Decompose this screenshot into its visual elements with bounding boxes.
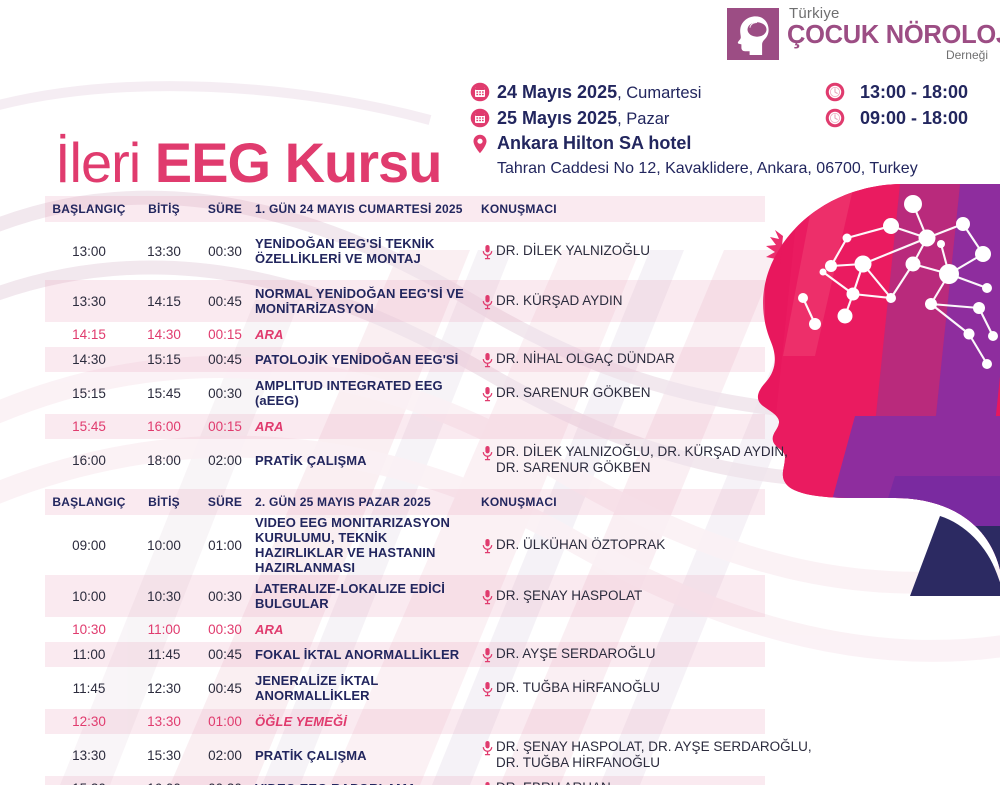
- row-start-time: 14:30: [45, 352, 133, 367]
- column-header-speaker: KONUŞMACI: [481, 201, 765, 217]
- microphone-icon: [481, 538, 494, 554]
- row-duration: 01:00: [195, 714, 255, 729]
- schedule-row: 11:4512:3000:45JENERALİZE İKTAL ANORMALL…: [45, 667, 765, 709]
- row-end-time: 16:00: [133, 781, 195, 785]
- schedule-row: 13:3015:3002:00PRATİK ÇALIŞMADR. ŞENAY H…: [45, 734, 765, 776]
- row-start-time: 12:30: [45, 714, 133, 729]
- logo-wordmark: Türkiye ÇOCUK NÖROLOJİSİ Derneği: [787, 6, 992, 64]
- calendar-icon: [470, 108, 490, 128]
- row-duration: 00:45: [195, 352, 255, 367]
- row-speaker-name: DR. NİHAL OLGAÇ DÜNDAR: [496, 351, 675, 367]
- row-duration: 00:30: [195, 386, 255, 401]
- schedule-row: 15:4516:0000:15ARA: [45, 414, 765, 439]
- row-start-time: 13:30: [45, 294, 133, 309]
- microphone-icon: [481, 352, 494, 368]
- row-end-time: 13:30: [133, 244, 195, 259]
- schedule-table: BAŞLANGIÇBİTİŞSÜRE1. GÜN 24 MAYIS CUMART…: [45, 196, 765, 785]
- schedule-row: 11:0011:4500:45FOKAL İKTAL ANORMALLİKLER…: [45, 642, 765, 667]
- row-speaker-name: DR. EBRU ARHAN: [496, 780, 611, 785]
- schedule-row: 15:1515:4500:30AMPLITUD INTEGRATED EEG (…: [45, 372, 765, 414]
- row-start-time: 15:30: [45, 781, 133, 785]
- row-speaker: DR. SARENUR GÖKBEN: [481, 385, 765, 402]
- row-speaker-name: DR. ŞENAY HASPOLAT: [496, 588, 642, 604]
- row-speaker-name: DR. KÜRŞAD AYDIN: [496, 293, 623, 309]
- organization-logo: Türkiye ÇOCUK NÖROLOJİSİ Derneği: [727, 6, 989, 64]
- row-end-time: 14:30: [133, 327, 195, 342]
- row-topic: PRATİK ÇALIŞMA: [255, 748, 481, 763]
- row-speaker: DR. NİHAL OLGAÇ DÜNDAR: [481, 351, 765, 368]
- column-header-duration: SÜRE: [195, 495, 255, 509]
- schedule-row: 09:0010:0001:00VIDEO EEG MONITARIZASYON …: [45, 515, 765, 575]
- row-end-time: 12:30: [133, 681, 195, 696]
- microphone-icon: [481, 244, 494, 260]
- row-duration: 00:30: [195, 781, 255, 785]
- row-speaker: DR. ŞENAY HASPOLAT: [481, 588, 765, 605]
- event-day2-date: 25 Mayıs 2025, Pazar: [497, 106, 669, 131]
- row-topic: AMPLITUD INTEGRATED EEG (aEEG): [255, 378, 481, 408]
- row-end-time: 15:15: [133, 352, 195, 367]
- schedule-row: 13:0013:3000:30YENİDOĞAN EEG'Sİ TEKNİK Ö…: [45, 222, 765, 280]
- schedule-row: 13:3014:1500:45NORMAL YENİDOĞAN EEG'Sİ V…: [45, 280, 765, 322]
- row-speaker-name: DR. AYŞE SERDAROĞLU: [496, 646, 656, 662]
- row-speaker: DR. DİLEK YALNIZOĞLU: [481, 243, 765, 260]
- row-topic: ÖĞLE YEMEĞİ: [255, 714, 481, 729]
- row-start-time: 15:15: [45, 386, 133, 401]
- column-header-day: 1. GÜN 24 MAYIS CUMARTESİ 2025: [255, 202, 481, 217]
- row-duration: 01:00: [195, 538, 255, 553]
- page-title: İleri EEG Kursu: [55, 133, 441, 193]
- row-duration: 00:30: [195, 622, 255, 637]
- row-end-time: 18:00: [133, 453, 195, 468]
- row-start-time: 13:30: [45, 748, 133, 763]
- row-duration: 02:00: [195, 748, 255, 763]
- row-speaker-name: DR. ÜLKÜHAN ÖZTOPRAK: [496, 537, 665, 553]
- row-duration: 00:45: [195, 647, 255, 662]
- column-header-end: BİTİŞ: [133, 495, 195, 509]
- logo-main-line: ÇOCUK NÖROLOJİSİ: [787, 22, 992, 49]
- event-day1-time-wrap: 13:00 - 18:00: [825, 80, 990, 104]
- row-speaker: DR. EBRU ARHAN: [481, 780, 765, 785]
- column-header-end: BİTİŞ: [133, 202, 195, 216]
- event-day2-date-text: 25 Mayıs 2025: [497, 108, 617, 128]
- event-day1-row: 24 Mayıs 2025, Cumartesi 13:00 - 18:00: [470, 80, 990, 106]
- row-speaker: DR. TUĞBA HİRFANOĞLU: [481, 680, 765, 697]
- column-header-speaker: KONUŞMACI: [481, 494, 765, 510]
- schedule-row: 10:3011:0000:30ARA: [45, 617, 765, 642]
- row-topic: ARA: [255, 327, 481, 342]
- location-pin-icon: [470, 134, 490, 154]
- microphone-icon: [481, 294, 494, 310]
- row-duration: 00:15: [195, 327, 255, 342]
- microphone-icon: [481, 681, 494, 697]
- microphone-icon: [481, 386, 494, 402]
- column-header-day: 2. GÜN 25 MAYIS PAZAR 2025: [255, 495, 481, 510]
- row-duration: 00:45: [195, 681, 255, 696]
- calendar-icon: [470, 82, 490, 102]
- row-end-time: 15:45: [133, 386, 195, 401]
- row-topic: VIDEO EEG RAPORLAMA: [255, 781, 481, 785]
- schedule-header-row: BAŞLANGIÇBİTİŞSÜRE2. GÜN 25 MAYIS PAZAR …: [45, 489, 765, 515]
- row-topic: JENERALİZE İKTAL ANORMALLİKLER: [255, 673, 481, 703]
- row-speaker: DR. ÜLKÜHAN ÖZTOPRAK: [481, 537, 765, 554]
- event-venue: Ankara Hilton SA hotel: [497, 132, 691, 155]
- row-start-time: 10:00: [45, 589, 133, 604]
- event-day2-time-wrap: 09:00 - 18:00: [825, 106, 990, 130]
- row-duration: 02:00: [195, 453, 255, 468]
- event-day2-weekday: , Pazar: [617, 110, 669, 128]
- row-end-time: 10:00: [133, 538, 195, 553]
- row-topic: PATOLOJİK YENİDOĞAN EEG'Sİ: [255, 352, 481, 367]
- schedule-row: 12:3013:3001:00ÖĞLE YEMEĞİ: [45, 709, 765, 734]
- event-location-row: Ankara Hilton SA hotel: [470, 132, 990, 158]
- row-end-time: 10:30: [133, 589, 195, 604]
- microphone-icon: [481, 781, 494, 785]
- schedule-row: 14:1514:3000:15ARA: [45, 322, 765, 347]
- row-duration: 00:30: [195, 244, 255, 259]
- row-topic: ARA: [255, 419, 481, 434]
- schedule-row: 10:0010:3000:30LATERALIZE-LOKALIZE EDİCİ…: [45, 575, 765, 617]
- column-header-start: BAŞLANGIÇ: [45, 495, 133, 509]
- event-day1-weekday: , Cumartesi: [617, 84, 701, 102]
- event-day1-date: 24 Mayıs 2025, Cumartesi: [497, 80, 701, 105]
- row-speaker: DR. DİLEK YALNIZOĞLU, DR. KÜRŞAD AYDIN,D…: [481, 444, 788, 476]
- row-topic: LATERALIZE-LOKALIZE EDİCİ BULGULAR: [255, 581, 481, 611]
- row-start-time: 11:00: [45, 647, 133, 662]
- event-info-block: 24 Mayıs 2025, Cumartesi 13:00 - 18:00: [470, 80, 990, 180]
- clock-icon: [825, 82, 845, 102]
- microphone-icon: [481, 589, 494, 605]
- title-light-part: İleri: [55, 131, 155, 194]
- schedule-row: 16:0018:0002:00PRATİK ÇALIŞMADR. DİLEK Y…: [45, 439, 765, 481]
- microphone-icon: [481, 445, 494, 461]
- row-speaker: DR. AYŞE SERDAROĞLU: [481, 646, 765, 663]
- microphone-icon: [481, 647, 494, 663]
- row-start-time: 13:00: [45, 244, 133, 259]
- row-topic: VIDEO EEG MONITARIZASYON KURULUMU, TEKNİ…: [255, 515, 481, 575]
- logo-top-line: Türkiye: [787, 6, 992, 22]
- schedule-row: 15:3016:0000:30VIDEO EEG RAPORLAMADR. EB…: [45, 776, 765, 785]
- row-speaker-name: DR. SARENUR GÖKBEN: [496, 385, 651, 401]
- logo-sub-line: Derneği: [787, 49, 992, 62]
- brain-head-illustration: [735, 176, 1000, 596]
- clock-icon: [825, 108, 845, 128]
- row-speaker: DR. KÜRŞAD AYDIN: [481, 293, 765, 310]
- schedule-header-row: BAŞLANGIÇBİTİŞSÜRE1. GÜN 24 MAYIS CUMART…: [45, 196, 765, 222]
- poster-canvas: Türkiye ÇOCUK NÖROLOJİSİ Derneği İleri E…: [0, 0, 1000, 785]
- schedule-day-gap: [45, 481, 765, 489]
- row-topic: PRATİK ÇALIŞMA: [255, 453, 481, 468]
- row-end-time: 11:00: [133, 622, 195, 637]
- row-end-time: 15:30: [133, 748, 195, 763]
- event-day1-date-text: 24 Mayıs 2025: [497, 82, 617, 102]
- event-day1-hours: 13:00 - 18:00: [852, 80, 968, 104]
- event-address: Tahran Caddesi No 12, Kavaklidere, Ankar…: [497, 158, 990, 180]
- column-header-duration: SÜRE: [195, 202, 255, 216]
- row-end-time: 13:30: [133, 714, 195, 729]
- row-end-time: 11:45: [133, 647, 195, 662]
- row-speaker-name: DR. ŞENAY HASPOLAT, DR. AYŞE SERDAROĞLU,…: [496, 739, 812, 771]
- row-start-time: 09:00: [45, 538, 133, 553]
- row-speaker-name: DR. TUĞBA HİRFANOĞLU: [496, 680, 660, 696]
- row-topic: YENİDOĞAN EEG'Sİ TEKNİK ÖZELLİKLERİ VE M…: [255, 236, 481, 266]
- row-start-time: 10:30: [45, 622, 133, 637]
- row-duration: 00:45: [195, 294, 255, 309]
- row-duration: 00:30: [195, 589, 255, 604]
- row-topic: NORMAL YENİDOĞAN EEG'Sİ VE MONİTARİZASYO…: [255, 286, 481, 316]
- schedule-body: BAŞLANGIÇBİTİŞSÜRE1. GÜN 24 MAYIS CUMART…: [45, 196, 765, 785]
- column-header-start: BAŞLANGIÇ: [45, 202, 133, 216]
- row-speaker: DR. ŞENAY HASPOLAT, DR. AYŞE SERDAROĞLU,…: [481, 739, 812, 771]
- row-duration: 00:15: [195, 419, 255, 434]
- row-speaker-name: DR. DİLEK YALNIZOĞLU: [496, 243, 650, 259]
- head-brain-icon: [727, 8, 779, 60]
- row-end-time: 14:15: [133, 294, 195, 309]
- row-start-time: 14:15: [45, 327, 133, 342]
- row-start-time: 15:45: [45, 419, 133, 434]
- schedule-row: 14:3015:1500:45PATOLOJİK YENİDOĞAN EEG'S…: [45, 347, 765, 372]
- row-topic: ARA: [255, 622, 481, 637]
- row-end-time: 16:00: [133, 419, 195, 434]
- row-start-time: 16:00: [45, 453, 133, 468]
- title-bold-part: EEG Kursu: [155, 131, 442, 194]
- row-speaker-name: DR. DİLEK YALNIZOĞLU, DR. KÜRŞAD AYDIN,D…: [496, 444, 788, 476]
- microphone-icon: [481, 740, 494, 756]
- row-topic: FOKAL İKTAL ANORMALLİKLER: [255, 647, 481, 662]
- event-day2-hours: 09:00 - 18:00: [852, 106, 968, 130]
- row-start-time: 11:45: [45, 681, 133, 696]
- event-day2-row: 25 Mayıs 2025, Pazar 09:00 - 18:00: [470, 106, 990, 132]
